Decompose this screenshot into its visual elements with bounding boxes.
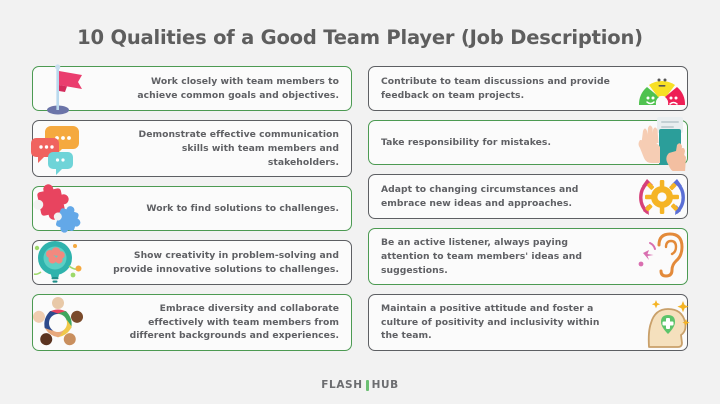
logo-divider <box>366 380 369 391</box>
head-plus-icon <box>631 294 693 352</box>
quality-card-text: Adapt to changing circumstances and embr… <box>381 183 619 210</box>
quality-card-9[interactable]: Be an active listener, always paying att… <box>368 228 688 285</box>
quality-card-3[interactable]: Work to find solutions to challenges. <box>32 186 352 231</box>
right-column: Contribute to team discussions and provi… <box>368 66 688 351</box>
page-title: 10 Qualities of a Good Team Player (Job … <box>0 0 720 49</box>
quality-card-5[interactable]: Embrace diversity and collaborate effect… <box>32 294 352 351</box>
flag-icon <box>27 59 89 119</box>
speech-bubbles-icon <box>27 119 89 179</box>
gear-cycle-icon <box>631 168 693 226</box>
quality-card-text: Maintain a positive attitude and foster … <box>381 302 619 343</box>
quality-card-1[interactable]: Work closely with team members to achiev… <box>32 66 352 111</box>
infographic-page: 10 Qualities of a Good Team Player (Job … <box>0 0 720 404</box>
quality-card-2[interactable]: Demonstrate effective communication skil… <box>32 120 352 177</box>
left-column: Work closely with team members to achiev… <box>32 66 352 351</box>
lightbulb-brain-icon <box>27 233 89 293</box>
quality-card-text: Take responsibility for mistakes. <box>381 136 551 150</box>
quality-card-text: Demonstrate effective communication skil… <box>109 128 339 169</box>
quality-card-10[interactable]: Maintain a positive attitude and foster … <box>368 294 688 351</box>
feedback-gauge-icon <box>631 60 693 118</box>
ear-icon <box>631 228 693 286</box>
footer-logo: FLASH HUB <box>0 379 720 391</box>
quality-card-6[interactable]: Contribute to team discussions and provi… <box>368 66 688 111</box>
quality-card-text: Work closely with team members to achiev… <box>109 75 339 102</box>
quality-card-8[interactable]: Adapt to changing circumstances and embr… <box>368 174 688 219</box>
cards-container: Work closely with team members to achiev… <box>0 49 720 351</box>
hands-clipboard-icon <box>631 114 693 172</box>
quality-card-7[interactable]: Take responsibility for mistakes. <box>368 120 688 165</box>
logo-text-flash: FLASH <box>321 379 362 391</box>
quality-card-text: Be an active listener, always paying att… <box>381 236 619 277</box>
puzzle-pieces-icon <box>27 179 89 239</box>
logo-text-hub: HUB <box>372 379 399 391</box>
quality-card-text: Contribute to team discussions and provi… <box>381 75 619 102</box>
quality-card-4[interactable]: Show creativity in problem-solving and p… <box>32 240 352 285</box>
quality-card-text: Show creativity in problem-solving and p… <box>109 249 339 276</box>
quality-card-text: Embrace diversity and collaborate effect… <box>109 302 339 343</box>
quality-card-text: Work to find solutions to challenges. <box>146 202 339 216</box>
diversity-circle-icon <box>27 293 89 353</box>
